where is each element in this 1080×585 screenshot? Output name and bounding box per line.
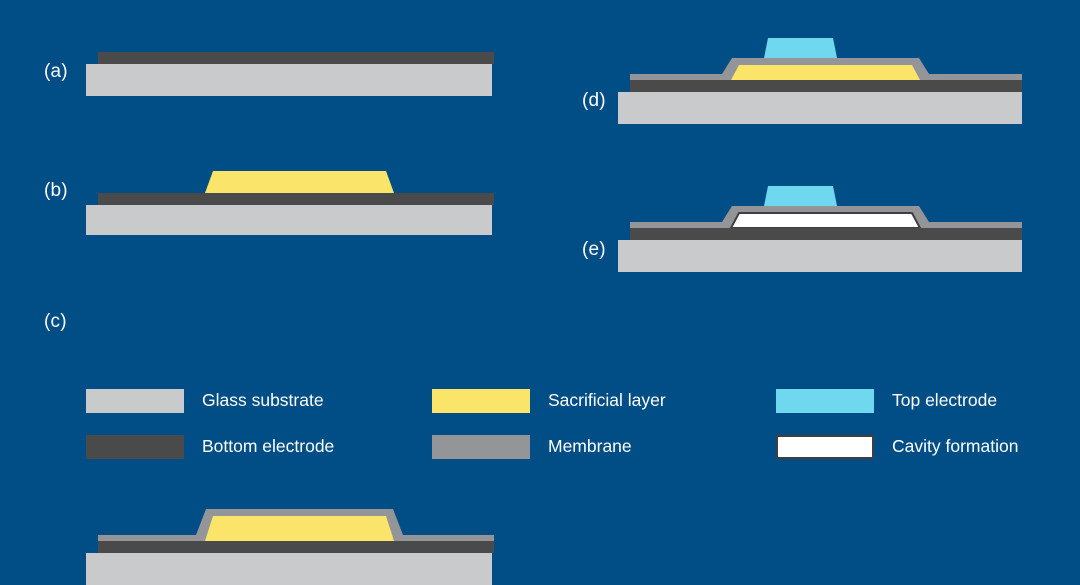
legend-item-bottom-electrode: Bottom electrode — [86, 424, 334, 470]
legend-item-membrane: Membrane — [432, 424, 666, 470]
bottom-electrode-layer — [98, 193, 494, 205]
panel-c-label: (c) — [44, 312, 67, 331]
legend-item-cavity-formation: Cavity formation — [776, 424, 1018, 470]
panel-d-label: (d) — [582, 91, 606, 110]
sacrificial-layer-shape — [205, 516, 394, 541]
glass-substrate-layer — [86, 205, 492, 235]
figure-canvas: (a) (b) (c) — [0, 0, 1080, 506]
panel-b: (b) — [0, 120, 540, 235]
legend-column-3: Top electrode Cavity formation — [776, 378, 1018, 470]
legend-item-top-electrode: Top electrode — [776, 378, 1018, 424]
legend-swatch-top-electrode — [776, 389, 874, 413]
legend-label-bottom-electrode: Bottom electrode — [202, 438, 334, 456]
bottom-electrode-layer — [630, 228, 1022, 240]
panel-c: (c) — [0, 240, 540, 360]
panel-c-diagram — [86, 495, 496, 585]
panel-a-diagram — [86, 40, 496, 120]
legend-swatch-membrane — [432, 435, 530, 459]
legend-column-2: Sacrificial layer Membrane — [432, 378, 666, 470]
panel-e-diagram — [618, 178, 1038, 278]
panel-e: (e) — [540, 150, 1080, 290]
legend-label-cavity-formation: Cavity formation — [892, 438, 1018, 456]
legend-item-sacrificial-layer: Sacrificial layer — [432, 378, 666, 424]
bottom-electrode-layer — [98, 52, 494, 64]
glass-substrate-layer — [86, 553, 492, 585]
top-electrode-layer — [764, 186, 837, 206]
panel-b-diagram — [86, 145, 496, 235]
panel-d-diagram — [618, 30, 1038, 130]
panel-a: (a) — [0, 0, 540, 120]
legend-label-top-electrode: Top electrode — [892, 392, 997, 410]
legend-swatch-sacrificial-layer — [432, 389, 530, 413]
legend-label-sacrificial-layer: Sacrificial layer — [548, 392, 666, 410]
legend-swatch-bottom-electrode — [86, 435, 184, 459]
legend-label-membrane: Membrane — [548, 438, 632, 456]
glass-substrate-layer — [618, 240, 1022, 272]
legend-swatch-cavity-formation — [776, 435, 874, 459]
panel-a-label: (a) — [44, 62, 68, 81]
glass-substrate-layer — [618, 92, 1022, 124]
panel-b-label: (b) — [44, 181, 68, 200]
legend-item-glass-substrate: Glass substrate — [86, 378, 334, 424]
top-electrode-layer — [764, 38, 837, 58]
panel-e-label: (e) — [582, 240, 606, 259]
sacrificial-layer-shape — [205, 171, 394, 193]
cavity-shape — [731, 213, 920, 228]
sacrificial-layer-shape — [731, 65, 920, 80]
glass-substrate-layer — [86, 64, 492, 96]
legend: Glass substrate Bottom electrode Sacrifi… — [0, 378, 1080, 478]
legend-swatch-glass-substrate — [86, 389, 184, 413]
panel-d: (d) — [540, 0, 1080, 140]
legend-column-1: Glass substrate Bottom electrode — [86, 378, 334, 470]
legend-label-glass-substrate: Glass substrate — [202, 392, 324, 410]
bottom-electrode-layer — [98, 541, 494, 553]
bottom-electrode-layer — [630, 80, 1022, 92]
